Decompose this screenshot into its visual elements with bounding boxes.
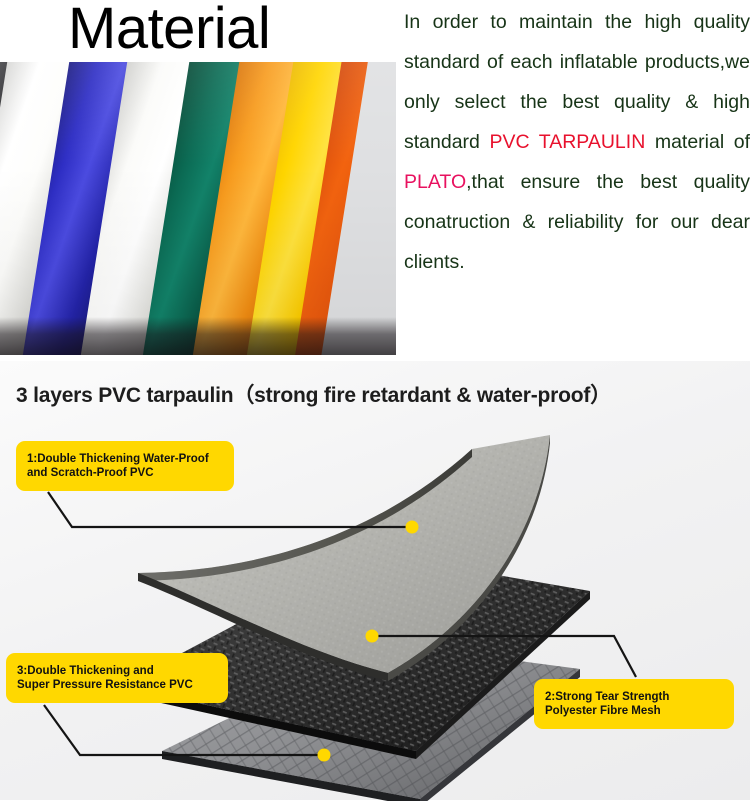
tarpaulin-rolls-photo bbox=[0, 62, 396, 355]
desc-highlight-pvc-tarpaulin: PVC TARPAULIN bbox=[489, 131, 645, 153]
callout-3-line-2: Super Pressure Resistance PVC bbox=[17, 678, 218, 692]
material-description: In order to maintain the high quality st… bbox=[404, 2, 750, 282]
material-top-section: Material In order to maintain the high q… bbox=[0, 0, 750, 360]
callout-2-line-1: 2:Strong Tear Strength bbox=[545, 690, 724, 704]
callout-layer-2: 2:Strong Tear Strength Polyester Fibre M… bbox=[534, 679, 734, 729]
callout-1-line-2: and Scratch-Proof PVC bbox=[27, 466, 224, 480]
callout-2-line-2: Polyester Fibre Mesh bbox=[545, 704, 724, 718]
page-title: Material bbox=[68, 0, 270, 62]
callout-layer-1: 1:Double Thickening Water-Proof and Scra… bbox=[16, 441, 234, 491]
layers-bottom-section: 3 layers PVC tarpaulin（strong fire retar… bbox=[0, 361, 750, 800]
desc-highlight-plato: PLATO bbox=[404, 171, 466, 193]
layers-heading: 3 layers PVC tarpaulin（strong fire retar… bbox=[16, 379, 611, 409]
callout-layer-3: 3:Double Thickening and Super Pressure R… bbox=[6, 653, 228, 703]
rolls-shadow bbox=[0, 317, 396, 355]
callout-1-line-1: 1:Double Thickening Water-Proof bbox=[27, 452, 224, 466]
callout-3-line-1: 3:Double Thickening and bbox=[17, 664, 218, 678]
desc-part-2: material of bbox=[645, 131, 750, 153]
